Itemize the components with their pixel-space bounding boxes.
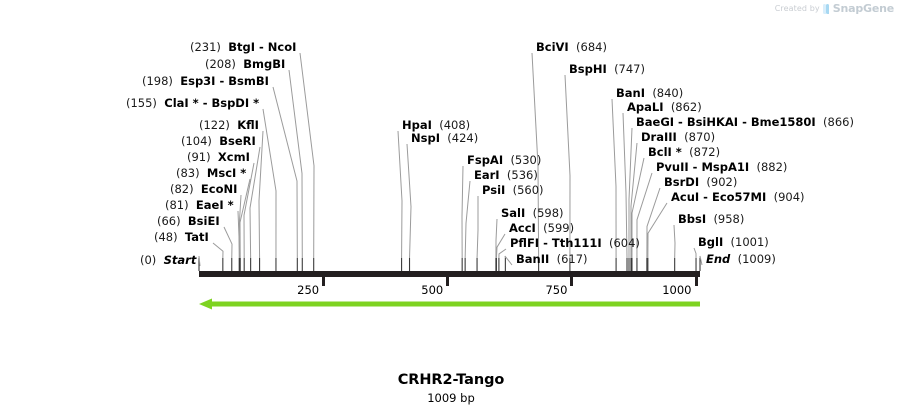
label-gap [194, 182, 201, 196]
restriction-site-label[interactable]: BsrDI (902) [664, 176, 737, 189]
site-position: (231) [190, 40, 221, 54]
site-enzyme-name: NspI [411, 131, 440, 145]
site-position: (91) [187, 150, 211, 164]
site-position: (866) [823, 115, 854, 129]
site-position: (747) [614, 62, 645, 76]
site-position: (1009) [738, 252, 776, 266]
site-leader-line [496, 234, 505, 258]
site-enzyme-name: PvuII - MspA1I [656, 160, 749, 174]
site-leader-line [496, 219, 497, 258]
site-position: (82) [170, 182, 194, 196]
label-gap [730, 252, 737, 266]
site-position: (530) [510, 153, 541, 167]
label-gap [500, 168, 507, 182]
restriction-site-label[interactable]: PvuII - MspA1I (882) [656, 161, 787, 174]
site-enzyme-name: EaeI * [196, 198, 234, 212]
site-enzyme-name: BanI [616, 86, 645, 100]
restriction-site-label[interactable]: AccI (599) [509, 222, 574, 235]
ruler-tick [322, 277, 325, 286]
site-position: (81) [165, 198, 189, 212]
site-enzyme-name: Esp3I - BsmBI [180, 74, 269, 88]
restriction-site-label[interactable]: NspI (424) [411, 132, 478, 145]
linear-map: (231) BtgI - NcoI(208) BmgBI(198) Esp3I … [0, 0, 902, 330]
site-enzyme-name: BseRI [219, 134, 256, 148]
site-position: (904) [774, 190, 805, 204]
site-position: (840) [652, 86, 683, 100]
site-position: (208) [205, 57, 236, 71]
site-leader-line [300, 53, 314, 258]
site-enzyme-name: BtgI - NcoI [228, 40, 296, 54]
site-leader-line [240, 179, 250, 258]
site-position: (617) [557, 252, 588, 266]
restriction-site-label[interactable]: DraIII (870) [641, 131, 715, 144]
site-enzyme-name: AccI [509, 221, 536, 235]
site-enzyme-name: AcuI - Eco57MI [671, 190, 766, 204]
site-position: (66) [157, 214, 181, 228]
site-leader-line [477, 196, 478, 258]
restriction-site-label[interactable]: (198) Esp3I - BsmBI [142, 75, 269, 88]
site-enzyme-name: FspAI [467, 153, 503, 167]
restriction-site-label[interactable]: (122) KflI [199, 119, 259, 132]
site-position: (872) [689, 145, 720, 159]
ruler-tick [570, 277, 573, 286]
site-enzyme-name: PsiI [482, 183, 505, 197]
restriction-site-label[interactable]: ApaLI (862) [627, 101, 702, 114]
restriction-site-label[interactable]: (155) ClaI * - BspDI * [126, 97, 259, 110]
site-leader-line [199, 256, 200, 266]
label-gap [211, 150, 218, 164]
site-enzyme-name: PflFI - Tth111I [510, 236, 602, 250]
site-leader-line [612, 99, 616, 258]
label-gap [189, 198, 196, 212]
label-gap [178, 230, 185, 244]
site-position: (424) [447, 131, 478, 145]
restriction-site-label[interactable]: AcuI - Eco57MI (904) [671, 191, 805, 204]
site-enzyme-name: End [706, 252, 730, 266]
site-enzyme-name: BanII [516, 252, 549, 266]
site-position: (870) [684, 130, 715, 144]
site-enzyme-name: DraIII [641, 130, 677, 144]
site-enzyme-name: BmgBI [243, 57, 285, 71]
site-leader-line [263, 109, 276, 258]
label-gap [816, 115, 823, 129]
restriction-site-label[interactable]: (48) TatI [154, 231, 209, 244]
restriction-site-label[interactable]: BaeGI - BsiHKAI - Bme1580I (866) [636, 116, 854, 129]
label-gap [549, 252, 556, 266]
site-leader-line [674, 225, 675, 258]
site-position: (48) [154, 230, 178, 244]
site-enzyme-name: KflI [237, 118, 259, 132]
label-gap [200, 166, 207, 180]
site-position: (0) [140, 253, 156, 267]
site-position: (560) [513, 183, 544, 197]
restriction-site-label[interactable]: BglI (1001) [698, 236, 769, 249]
restriction-site-label[interactable]: BspHI (747) [569, 63, 645, 76]
site-enzyme-name: BspHI [569, 62, 607, 76]
label-gap [181, 214, 188, 228]
restriction-site-label[interactable]: (231) BtgI - NcoI [190, 41, 296, 54]
site-position: (684) [576, 40, 607, 54]
orf-arrow-wrap [199, 295, 700, 307]
site-enzyme-name: BaeGI - BsiHKAI - Bme1580I [636, 115, 816, 129]
site-position: (958) [713, 212, 744, 226]
restriction-site-label[interactable]: BanII (617) [516, 253, 588, 266]
site-position: (1001) [731, 235, 769, 249]
site-leader-line [499, 249, 506, 258]
site-leader-line [505, 256, 512, 265]
site-position: (536) [507, 168, 538, 182]
site-leader-line [648, 203, 667, 258]
site-enzyme-name: TatI [185, 230, 209, 244]
site-leader-line [465, 181, 470, 258]
site-enzyme-name: BglI [698, 235, 723, 249]
restriction-site-label[interactable]: (208) BmgBI [205, 58, 285, 71]
site-position: (408) [439, 118, 470, 132]
site-leader-line [224, 227, 232, 258]
site-enzyme-name: BclI * [648, 145, 682, 159]
site-position: (599) [543, 221, 574, 235]
label-gap [505, 183, 512, 197]
restriction-site-label[interactable]: SalI (598) [501, 207, 564, 220]
site-leader-line [407, 144, 411, 258]
label-gap [525, 206, 532, 220]
site-leader-line [239, 195, 241, 258]
restriction-site-label[interactable]: FspAI (530) [467, 154, 541, 167]
site-position: (155) [126, 96, 157, 110]
ruler-tick [695, 277, 698, 286]
site-position: (902) [706, 175, 737, 189]
site-position: (83) [176, 166, 200, 180]
label-gap [664, 100, 671, 114]
restriction-site-label[interactable]: BanI (840) [616, 87, 683, 100]
site-position: (122) [199, 118, 230, 132]
site-position: (882) [756, 160, 787, 174]
label-gap [156, 253, 163, 267]
site-leader-line [259, 131, 263, 258]
restriction-site-label[interactable]: (91) XcmI [187, 151, 250, 164]
restriction-site-label[interactable]: (83) MscI * [176, 167, 246, 180]
site-position: (598) [533, 206, 564, 220]
site-enzyme-name: BciVI [536, 40, 569, 54]
restriction-site-label[interactable]: (104) BseRI [181, 135, 256, 148]
site-enzyme-name: EcoNI [201, 182, 237, 196]
label-gap [607, 62, 614, 76]
restriction-site-label[interactable]: BciVI (684) [536, 41, 607, 54]
restriction-site-label[interactable]: PflFI - Tth111I (604) [510, 237, 640, 250]
site-leader-line [273, 87, 297, 258]
ruler-tick [446, 277, 449, 286]
site-enzyme-name: SalI [501, 206, 525, 220]
label-gap [766, 190, 773, 204]
site-enzyme-name: BbsI [678, 212, 706, 226]
label-gap [569, 40, 576, 54]
sequence-length: 1009 bp [0, 391, 902, 405]
site-enzyme-name: HpaI [402, 118, 432, 132]
map-footer: CRHR2-Tango 1009 bp [0, 372, 902, 405]
site-enzyme-name: ClaI * - BspDI * [164, 96, 259, 110]
restriction-site-label[interactable]: (66) BsiEI [157, 215, 220, 228]
site-leader-line [462, 166, 463, 258]
label-gap [602, 236, 609, 250]
site-leader-line [647, 188, 660, 258]
site-position: (604) [609, 236, 640, 250]
site-position: (104) [181, 134, 212, 148]
site-leader-line [700, 256, 702, 265]
restriction-site-label[interactable]: (82) EcoNI [170, 183, 237, 196]
orf-arrow-icon[interactable] [199, 298, 700, 310]
site-position: (198) [142, 74, 173, 88]
site-enzyme-name: ApaLI [627, 100, 664, 114]
restriction-site-label[interactable]: PsiI (560) [482, 184, 544, 197]
site-enzyme-name: BsrDI [664, 175, 699, 189]
site-position: (862) [671, 100, 702, 114]
site-enzyme-name: EarI [474, 168, 500, 182]
site-enzyme-name: XcmI [218, 150, 250, 164]
site-enzyme-name: BsiEI [188, 214, 220, 228]
restriction-site-label[interactable]: BbsI (958) [678, 213, 744, 226]
restriction-map-page: Created by SnapGene (231) BtgI - NcoI(20… [0, 0, 902, 415]
restriction-site-label[interactable]: BclI * (872) [648, 146, 720, 159]
sequence-name: CRHR2-Tango [0, 372, 902, 388]
site-leader-line [398, 131, 402, 258]
restriction-site-label[interactable]: (81) EaeI * [165, 199, 234, 212]
restriction-site-label[interactable]: EarI (536) [474, 169, 538, 182]
site-leader-line [694, 248, 696, 258]
restriction-site-label[interactable]: End (1009) [706, 253, 776, 266]
site-enzyme-name: MscI * [207, 166, 246, 180]
site-enzyme-name: Start [164, 253, 197, 267]
site-leader-line [213, 243, 223, 258]
site-leader-line [250, 147, 260, 258]
site-leader-line [289, 70, 302, 258]
label-gap [723, 235, 730, 249]
site-leader-line [238, 211, 239, 258]
restriction-site-label[interactable]: (0) Start [140, 254, 196, 267]
